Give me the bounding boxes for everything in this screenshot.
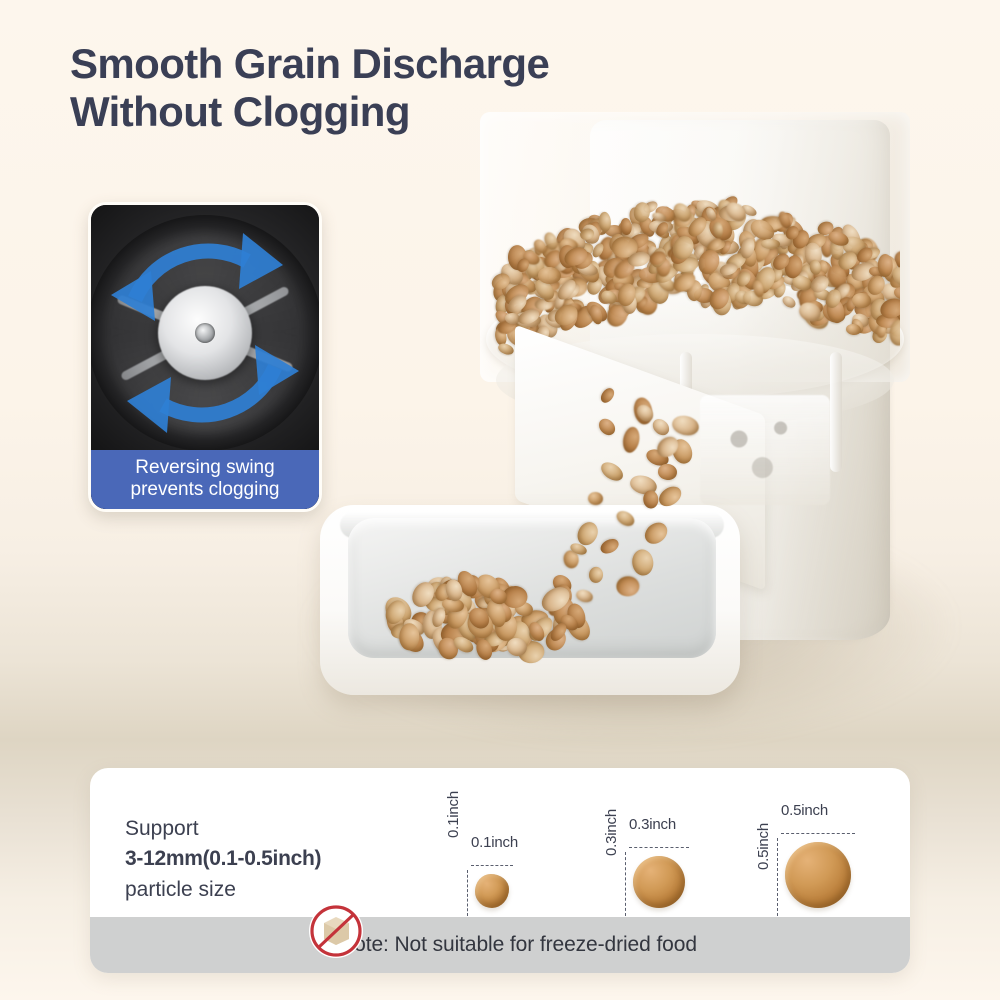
kibble-size-sample: 0.3inch0.3inch [603, 794, 701, 914]
sample-side-label: 0.5inch [755, 794, 772, 870]
sample-side-label: 0.1inch [445, 794, 462, 838]
support-text-block: Support 3-12mm(0.1-0.5inch) particle siz… [125, 814, 321, 905]
sample-height-guide [625, 852, 626, 916]
reversing-rotation-arrows-icon [97, 225, 313, 441]
sample-width-guide [471, 865, 513, 866]
inset-caption-line-1: Reversing swing [97, 457, 313, 478]
sample-top-label: 0.1inch [471, 834, 518, 851]
sample-height-guide [467, 870, 468, 916]
sample-width-guide [781, 833, 855, 834]
sample-top-label: 0.5inch [781, 802, 828, 819]
kibble-size-sample: 0.1inch0.1inch [445, 794, 525, 914]
note-bar: Note: Not suitable for freeze-dried food [90, 917, 910, 973]
particle-size-card: Support 3-12mm(0.1-0.5inch) particle siz… [90, 768, 910, 973]
kibble-sample-pellet [475, 874, 509, 908]
support-line-3: particle size [125, 875, 321, 905]
headline-line-1: Smooth Grain Discharge [70, 40, 549, 87]
support-line-1: Support [125, 814, 321, 844]
support-line-2: 3-12mm(0.1-0.5inch) [125, 844, 321, 874]
kibble-size-sample: 0.5inch0.5inch [755, 794, 867, 914]
product-feature-poster: Smooth Grain Discharge Without Clogging [0, 0, 1000, 1000]
kibble-in-bowl [300, 120, 1000, 740]
inset-caption-line-2: prevents clogging [97, 479, 313, 500]
reversing-swing-inset: Reversing swing prevents clogging [88, 202, 322, 512]
prohibited-freeze-dried-food-icon [306, 901, 366, 961]
kibble-size-samples: 0.1inch0.1inch0.3inch0.3inch0.5inch0.5in… [445, 782, 900, 914]
inset-caption: Reversing swing prevents clogging [91, 450, 319, 509]
sample-top-label: 0.3inch [629, 816, 676, 833]
kibble-sample-pellet [785, 842, 851, 908]
note-text: Note: Not suitable for freeze-dried food [339, 933, 697, 957]
sample-height-guide [777, 838, 778, 916]
product-photo [300, 120, 1000, 740]
sample-side-label: 0.3inch [603, 794, 620, 856]
kibble-sample-pellet [633, 856, 685, 908]
sample-width-guide [629, 847, 689, 848]
